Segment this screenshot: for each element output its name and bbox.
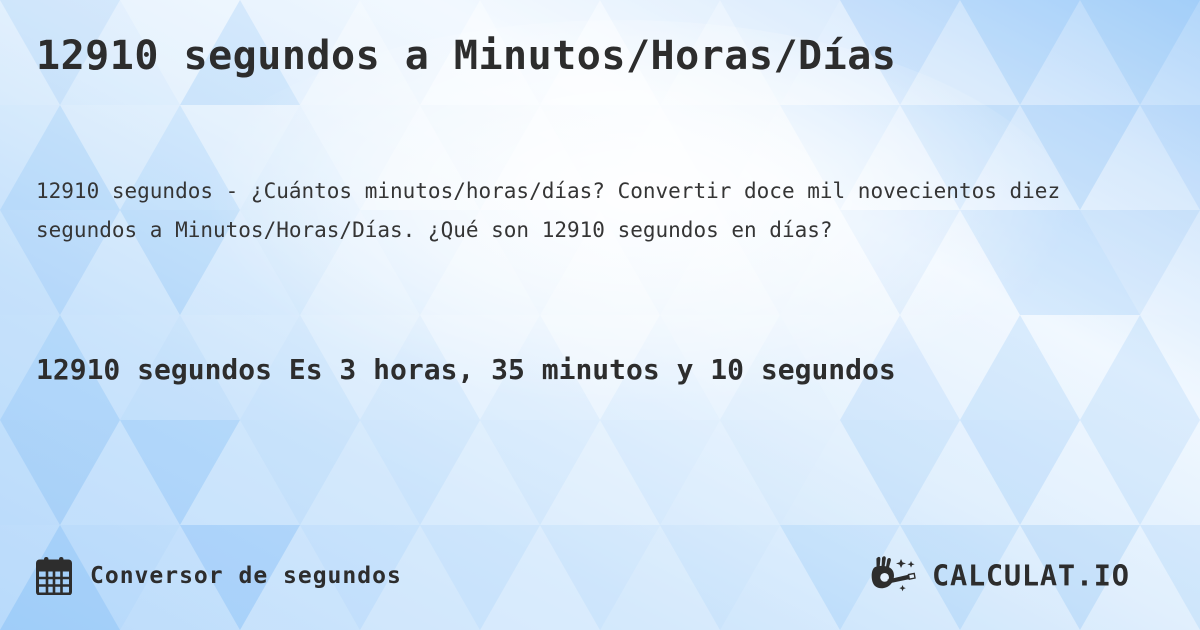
page-description: 12910 segundos - ¿Cuántos minutos/horas/… <box>36 172 1106 250</box>
page-title: 12910 segundos a Minutos/Horas/Días <box>36 32 1156 80</box>
conversion-result: 12910 segundos Es 3 horas, 35 minutos y … <box>36 345 1066 395</box>
content-area: 12910 segundos a Minutos/Horas/Días 1291… <box>0 0 1200 630</box>
og-image-card: 12910 segundos a Minutos/Horas/Días 1291… <box>0 0 1200 630</box>
